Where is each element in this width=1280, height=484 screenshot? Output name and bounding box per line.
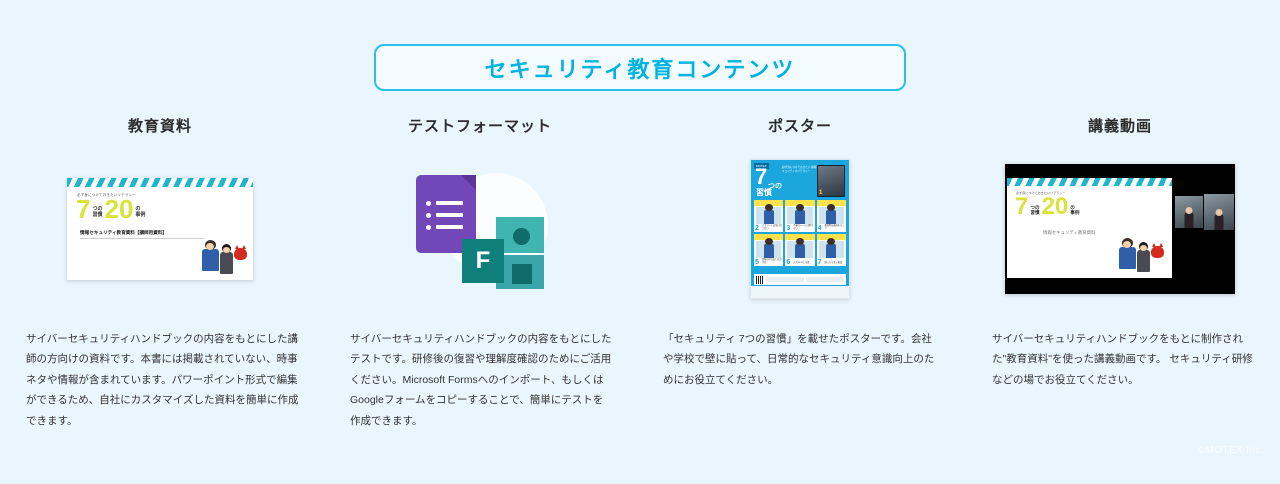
- panel-text: 公共Wi-Fiに注意: [793, 262, 813, 265]
- column-description: サイバーセキュリティハンドブックの内容をもとにしたテストです。研修後の復習や理解…: [350, 329, 612, 431]
- panel-image: [787, 207, 812, 224]
- panel-image: [819, 241, 844, 258]
- devil-mascot-icon: [234, 248, 247, 260]
- column-description: サイバーセキュリティハンドブックをもとに制作された"教育資料"を使った講義動画で…: [992, 329, 1258, 390]
- thumbnail-lecture-video[interactable]: 必ず身につけておきたいリテラシー 7 つの 習慣 20 の 事例 情報セ: [970, 149, 1270, 309]
- mid-bottom-2: 事例: [135, 212, 145, 218]
- security-poster: MOTEX 必ず身につけておきたい 情報セキュリティのリテラシー 7 つの 習慣…: [750, 159, 850, 299]
- ms-letter-tile: F: [462, 239, 504, 283]
- character-male-icon: [1119, 238, 1136, 276]
- slide-title-bar: 情報セキュリティ教育資料【講師用資料】: [80, 230, 204, 239]
- column-heading: 教育資料: [128, 115, 192, 135]
- line-bar: [436, 201, 463, 205]
- microsoft-forms-icon: F: [462, 217, 544, 289]
- character-female-icon: [1137, 242, 1150, 276]
- list-row: [426, 225, 463, 230]
- panel-text: 不審なメールは開かない: [793, 225, 813, 231]
- column-heading: ポスター: [768, 115, 832, 135]
- face-shape: [1123, 241, 1131, 248]
- figure-shape: [795, 244, 805, 258]
- poster-header: MOTEX 必ず身につけておきたい 情報セキュリティのリテラシー 7 つの 習慣…: [754, 163, 846, 199]
- panel-text: パスワードは使い回さない: [762, 225, 782, 231]
- panel-number: 7: [818, 259, 822, 266]
- video-slide-caption: 情報セキュリティ教育資料: [1043, 230, 1095, 236]
- panel-text: 情報の持ち出しは許可を: [762, 259, 782, 265]
- poster-panel-grid: 2パスワードは使い回さない 3不審なメールは開かない 4離席時は画面をロック 5…: [754, 200, 846, 266]
- panel-text: 離席時は画面をロック: [825, 225, 845, 231]
- forms-icon-group: F: [410, 167, 550, 292]
- panel-number: 5: [755, 259, 759, 266]
- qr-code-icon: [756, 276, 764, 284]
- poster-panel: 5情報の持ち出しは許可を: [754, 234, 783, 266]
- bullet-dot: [426, 225, 431, 230]
- poster-number-7: 7: [755, 168, 767, 187]
- video-mid-label-2: の 事例: [1070, 205, 1079, 218]
- poster-panel: 7困ったらすぐ相談: [817, 234, 846, 266]
- slide-mid-label-1: つの 習慣: [92, 207, 102, 221]
- webcam-person: [1185, 212, 1194, 228]
- video-mid-label-1: つの 習慣: [1030, 205, 1039, 218]
- lecture-video-thumbnail[interactable]: 必ず身につけておきたいリテラシー 7 つの 習慣 20 の 事例 情報セ: [1005, 164, 1235, 294]
- character-illustrations: [202, 240, 247, 278]
- panel-number: 3: [786, 225, 790, 232]
- face-shape: [206, 243, 214, 250]
- poster-kanji-label: 習慣: [756, 187, 772, 198]
- panel-number: 2: [755, 225, 759, 232]
- copyright-watermark: ©MOTEX Inc.: [1198, 445, 1264, 456]
- panel-text: 困ったらすぐ相談: [825, 262, 845, 265]
- ms-forms-letter: F: [476, 247, 491, 275]
- stripe-decoration: [67, 178, 253, 187]
- slide-deck-thumbnail: 必ず身につけておきたいリテラシー 7 つの 習慣 20 の 事例 情報セキュリテ…: [67, 178, 253, 280]
- stripe-decoration: [1007, 178, 1172, 186]
- column-description: サイバーセキュリティハンドブックの内容をもとにした講師の方向けの資料です。本書に…: [26, 329, 300, 431]
- poster-panel: 2パスワードは使い回さない: [754, 200, 783, 232]
- body-shape: [1137, 250, 1150, 272]
- slide-number-7: 7: [76, 198, 90, 221]
- video-number-7: 7: [1015, 196, 1028, 218]
- webcam-tile-2: [1204, 194, 1234, 230]
- title-box: セキュリティ教育コンテンツ: [374, 44, 906, 91]
- panel-image: [756, 241, 781, 258]
- title-section: セキュリティ教育コンテンツ: [0, 0, 1280, 91]
- poster-panel: 3不審なメールは開かない: [785, 200, 814, 232]
- hero-number: 1: [819, 190, 822, 196]
- video-slide-area: 必ず身につけておきたいリテラシー 7 つの 習慣 20 の 事例 情報セ: [1007, 178, 1172, 278]
- content-column-test-format: テストフォーマット F: [320, 115, 640, 431]
- page-title: セキュリティ教育コンテンツ: [485, 52, 796, 84]
- figure-shape: [826, 210, 836, 224]
- column-heading: 講義動画: [1088, 115, 1152, 135]
- webcam-tile-1: [1175, 196, 1203, 228]
- video-number-20: 20: [1042, 196, 1069, 218]
- line-bar: [436, 225, 463, 229]
- ms-circle-shape: [513, 228, 530, 245]
- content-column-poster: ポスター MOTEX 必ず身につけておきたい 情報セキュリティのリテラシー 7 …: [640, 115, 960, 431]
- figure-shape: [764, 210, 774, 224]
- list-lines: [426, 201, 463, 230]
- bullet-dot: [426, 213, 431, 218]
- panel-number: 4: [818, 225, 822, 232]
- figure-shape: [826, 244, 836, 258]
- poster-panel: 4離席時は画面をロック: [817, 200, 846, 232]
- thumbnail-poster[interactable]: MOTEX 必ず身につけておきたい 情報セキュリティのリテラシー 7 つの 習慣…: [650, 149, 950, 309]
- poster-footer-bar: [754, 274, 846, 285]
- poster-hero-panel: 1: [817, 165, 845, 197]
- body-shape: [1119, 247, 1136, 269]
- body-shape: [220, 252, 233, 274]
- poster-panel: 6公共Wi-Fiに注意: [785, 234, 814, 266]
- body-shape: [202, 249, 219, 271]
- list-row: [426, 213, 463, 218]
- mid-bottom-1: 習慣: [1030, 210, 1039, 215]
- thumbnail-test-format[interactable]: F: [330, 149, 630, 309]
- panel-image: [819, 207, 844, 224]
- bullet-dot: [426, 201, 431, 206]
- thumbnail-education-material[interactable]: 必ず身につけておきたいリテラシー 7 つの 習慣 20 の 事例 情報セキュリテ…: [10, 149, 310, 309]
- ms-square-shape: [512, 264, 532, 284]
- webcam-person: [1215, 214, 1224, 230]
- figure-shape: [795, 210, 805, 224]
- slide-mid-label-2: の 事例: [135, 207, 145, 221]
- panel-number: 6: [786, 259, 790, 266]
- line-bar: [436, 213, 463, 217]
- column-description: 「セキュリティ 7つの習慣」を載せたポスターです。会社や学校で壁に貼って、日常的…: [663, 329, 941, 390]
- character-male-icon: [202, 240, 219, 278]
- mid-bottom-2: 事例: [1070, 210, 1079, 215]
- character-female-icon: [220, 244, 233, 278]
- column-heading: テストフォーマット: [408, 115, 552, 135]
- poster-lead-text: 必ず身につけておきたい 情報セキュリティのリテラシー: [782, 166, 820, 174]
- mid-bottom-1: 習慣: [92, 212, 102, 218]
- list-row: [426, 201, 463, 206]
- content-column-lecture-video: 講義動画 必ず身につけておきたいリテラシー 7 つの 習慣 20 の: [960, 115, 1280, 431]
- face-shape: [223, 247, 230, 253]
- slide-number-graphic: 7 つの 習慣 20 の 事例: [76, 198, 145, 221]
- footer-logo-bar: [806, 277, 844, 282]
- panel-image: [787, 241, 812, 258]
- footer-logo-bar: [766, 277, 804, 282]
- poster-base-strip: [751, 286, 849, 298]
- video-number-graphic: 7 つの 習慣 20 の 事例: [1015, 196, 1079, 218]
- devil-mascot-icon: [1151, 246, 1164, 258]
- character-illustrations: [1119, 238, 1164, 276]
- face-shape: [1140, 245, 1147, 251]
- content-columns: 教育資料 必ず身につけておきたいリテラシー 7 つの 習慣 20 の 事例: [0, 115, 1280, 431]
- figure-shape: [764, 244, 774, 258]
- content-column-education-material: 教育資料 必ず身につけておきたいリテラシー 7 つの 習慣 20 の 事例: [0, 115, 320, 431]
- panel-image: [756, 207, 781, 224]
- slide-number-20: 20: [104, 198, 133, 221]
